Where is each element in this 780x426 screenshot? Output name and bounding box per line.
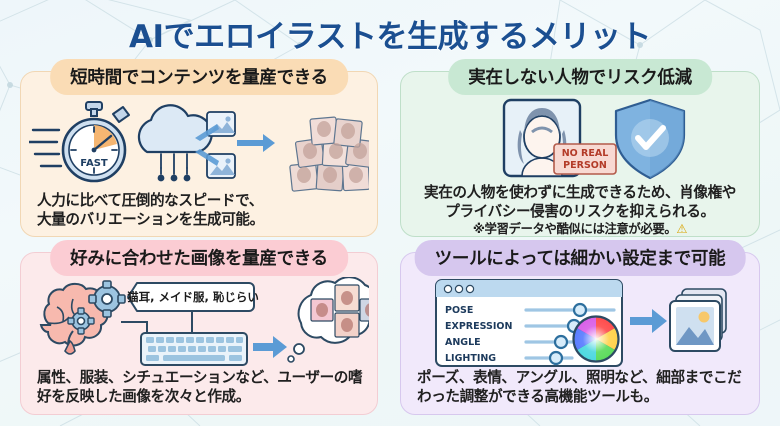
body-line: 人力に比べて圧倒的なスピードで、 (37, 192, 365, 211)
card-header-settings: ツールによっては細かい設定まで可能 (415, 240, 746, 276)
arrow-icon (630, 309, 667, 333)
speed-lines-icon (29, 130, 61, 166)
body-line: 属性、服装、シチュエーションなど、ユーザーの嗜 (37, 369, 365, 388)
slider-label: ANGLE (445, 337, 481, 348)
card-body-settings: ポーズ、表情、アングル、照明など、細部までこだ わった調整ができる高機能ツールも… (413, 369, 747, 406)
image-stack-icon (670, 289, 726, 351)
svg-text:PERSON: PERSON (563, 160, 607, 171)
short-time-illustration: FAST (29, 96, 369, 192)
page-title: AIでエロイラストを生成するメリット (0, 11, 780, 56)
no-real-person-badge: NO REAL PERSON (554, 144, 616, 174)
svg-text:FAST: FAST (80, 158, 108, 169)
slider-thumb (574, 304, 586, 316)
slider-thumb (555, 336, 567, 348)
keyboard-icon (141, 333, 247, 365)
photo-pile-icon (290, 117, 369, 191)
slider-thumb (550, 352, 562, 364)
preference-illustration: 猫耳, メイド服, 恥じらい (29, 277, 369, 369)
image-thumb-icon (207, 112, 235, 178)
body-line: プライバシー侵害のリスクを抑えられる。 (413, 203, 747, 222)
shield-check-icon (616, 100, 684, 178)
card-header-no-real-person: 実在しない人物でリスク低減 (448, 59, 712, 95)
card-art-short-time: FAST (33, 96, 365, 192)
window-dots-icon (444, 285, 473, 292)
body-line: ポーズ、表情、アングル、照明など、細部までこだ (417, 369, 747, 388)
slider-label: POSE (445, 305, 473, 316)
card-body-short-time: 人力に比べて圧倒的なスピードで、 大量のバリエーションを生成可能。 (33, 192, 365, 229)
stopwatch-icon: FAST (63, 102, 129, 181)
card-art-settings: POSE EXPRESSION ANGLE (413, 277, 747, 369)
card-art-no-real-person: NO REAL PERSON (413, 96, 747, 182)
body-line: 好を反映した画像を次々と作成。 (37, 388, 365, 407)
color-wheel-icon (573, 316, 619, 362)
prompt-bubble-icon: 猫耳, メイド服, 恥じらい (127, 283, 259, 311)
cloud-icon (139, 105, 212, 181)
benefit-card-no-real-person: 実在しない人物でリスク低減 NO REAL PERSON (400, 71, 760, 237)
settings-illustration: POSE EXPRESSION ANGLE (430, 277, 730, 369)
benefit-card-short-time: 短時間でコンテンツを量産できる (20, 71, 378, 237)
card-art-preference: 猫耳, メイド服, 恥じらい (33, 277, 365, 369)
thought-cloud-images-icon (288, 277, 369, 362)
body-line: わった調整ができる高機能ツールも。 (417, 388, 747, 407)
benefit-card-settings: ツールによっては細かい設定まで可能 POSE (400, 252, 760, 415)
card-body-preference: 属性、服装、シチュエーションなど、ユーザーの嗜 好を反映した画像を次々と作成。 (33, 369, 365, 406)
no-real-person-illustration: NO REAL PERSON (470, 96, 690, 182)
slider-label: LIGHTING (445, 353, 496, 364)
warning-triangle-icon: ⚠ (676, 221, 687, 236)
body-line: 大量のバリエーションを生成可能。 (37, 211, 365, 230)
body-line: 実在の人物を使わずに生成できるため、肖像権や (413, 184, 747, 203)
card-header-short-time: 短時間でコンテンツを量産できる (50, 59, 348, 95)
card-body-no-real-person: 実在の人物を使わずに生成できるため、肖像権や プライバシー侵害のリスクを抑えられ… (413, 184, 747, 237)
prompt-bubble-text: 猫耳, メイド服, 恥じらい (127, 290, 259, 304)
settings-window-icon: POSE EXPRESSION ANGLE (436, 280, 622, 366)
benefit-card-grid: 短時間でコンテンツを量産できる (0, 57, 780, 426)
svg-text:NO REAL: NO REAL (562, 148, 609, 159)
slider-label: EXPRESSION (445, 321, 512, 332)
note-text: ※学習データや酷似には注意が必要。 (473, 221, 677, 236)
card-header-preference: 好みに合わせた画像を量産できる (50, 240, 348, 276)
benefit-card-preference: 好みに合わせた画像を量産できる (20, 252, 378, 415)
brain-gears-icon (41, 281, 125, 354)
card-note-no-real-person: ※学習データや酷似には注意が必要。⚠ (413, 221, 747, 237)
arrow-icon (253, 336, 287, 358)
